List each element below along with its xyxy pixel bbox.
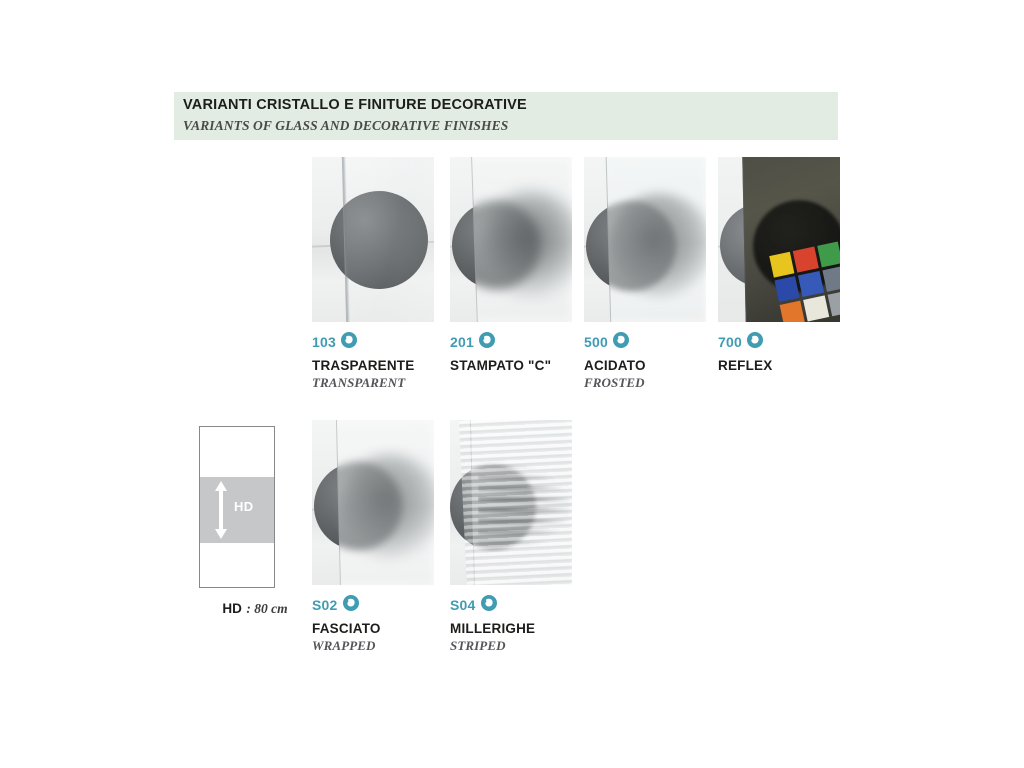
sample-caption-s02: S02 FASCIATO WRAPPED	[312, 596, 472, 654]
sample-caption-103: 103 TRASPARENTE TRANSPARENT	[312, 333, 472, 391]
glass-pane	[342, 157, 434, 322]
sample-name-en: FROSTED	[584, 375, 744, 391]
hd-band-label: HD	[234, 499, 253, 514]
diffused-sphere	[340, 454, 434, 558]
finish-swatch-icon	[481, 595, 497, 616]
hd-caption-key: HD	[222, 601, 242, 616]
sample-card-201[interactable]: 201 STAMPATO "C"	[450, 157, 572, 322]
sample-card-s04[interactable]: S04 MILLERIGHE STRIPED	[450, 420, 572, 585]
sample-image-103	[312, 157, 434, 322]
sample-image-s04	[450, 420, 572, 585]
finish-swatch-icon	[747, 332, 763, 353]
sample-name-en: TRANSPARENT	[312, 375, 472, 391]
sample-image-s02	[312, 420, 434, 585]
sample-card-500[interactable]: 500 ACIDATO FROSTED	[584, 157, 706, 322]
page-subtitle: VARIANTS OF GLASS AND DECORATIVE FINISHE…	[183, 118, 508, 134]
sample-name-en: STRIPED	[450, 638, 610, 654]
sample-card-103[interactable]: 103 TRASPARENTE TRANSPARENT	[312, 157, 434, 322]
sample-card-s02[interactable]: S02 FASCIATO WRAPPED	[312, 420, 434, 585]
sample-name-en: WRAPPED	[312, 638, 472, 654]
color-checker-reflection	[769, 242, 840, 322]
sample-code: S02	[312, 597, 338, 613]
sample-code: 103	[312, 334, 336, 350]
page-title: VARIANTI CRISTALLO E FINITURE DECORATIVE	[183, 97, 527, 113]
finish-swatch-icon	[613, 332, 629, 353]
sample-code: 700	[718, 334, 742, 350]
sample-code: 201	[450, 334, 474, 350]
finish-swatch-icon	[341, 332, 357, 353]
hd-height-diagram: HD	[199, 426, 275, 588]
sample-caption-700: 700 REFLEX	[718, 333, 878, 375]
sample-caption-s04: S04 MILLERIGHE STRIPED	[450, 596, 610, 654]
diffused-sphere	[608, 193, 706, 297]
hd-double-arrow-icon	[214, 481, 228, 539]
sample-image-201	[450, 157, 572, 322]
finish-swatch-icon	[479, 332, 495, 353]
hd-caption-value: : 80 cm	[246, 601, 287, 616]
sample-image-500	[584, 157, 706, 322]
sample-card-700[interactable]: 700 REFLEX	[718, 157, 840, 322]
sample-name: REFLEX	[718, 358, 878, 373]
sample-code: S04	[450, 597, 476, 613]
striped-sphere-distortion	[478, 464, 572, 550]
sample-name: TRASPARENTE	[312, 358, 472, 373]
sample-name: MILLERIGHE	[450, 621, 610, 636]
sample-image-700	[718, 157, 840, 322]
finish-swatch-icon	[343, 595, 359, 616]
sample-code: 500	[584, 334, 608, 350]
hd-caption: HD : 80 cm	[195, 600, 315, 618]
sample-name: FASCIATO	[312, 621, 472, 636]
